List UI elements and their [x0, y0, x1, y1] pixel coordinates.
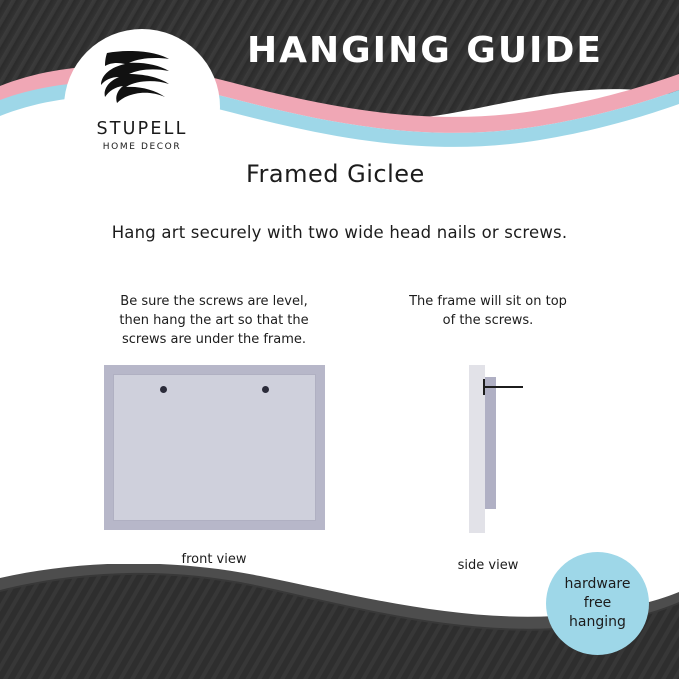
front-view-caption: Be sure the screws are level, then hang … [96, 292, 332, 349]
badge-text: hardware free hanging [565, 575, 631, 632]
brand-logo: STUPELL HOME DECOR [64, 29, 220, 185]
hanging-guide-page: HANGING GUIDE STUPELL HOME DECOR Framed … [0, 0, 679, 679]
side-frame-shape [485, 377, 496, 509]
swoosh-logo-icon [99, 47, 185, 113]
side-view-caption: The frame will sit on top of the screws. [380, 292, 596, 330]
page-title: HANGING GUIDE [247, 30, 603, 71]
screw-dot-right-icon [262, 386, 269, 393]
front-view-diagram [104, 365, 325, 530]
side-view-diagram [455, 365, 530, 533]
product-title: Framed Giclee [246, 160, 425, 188]
brand-name: STUPELL [96, 119, 187, 139]
hardware-free-badge: hardware free hanging [546, 552, 649, 655]
instruction-text: Hang art securely with two wide head nai… [0, 223, 679, 242]
brand-subtitle: HOME DECOR [103, 142, 181, 152]
front-frame-mat [113, 374, 316, 521]
screw-dot-left-icon [160, 386, 167, 393]
screw-head-icon [483, 379, 485, 395]
screw-shaft-icon [485, 386, 523, 388]
